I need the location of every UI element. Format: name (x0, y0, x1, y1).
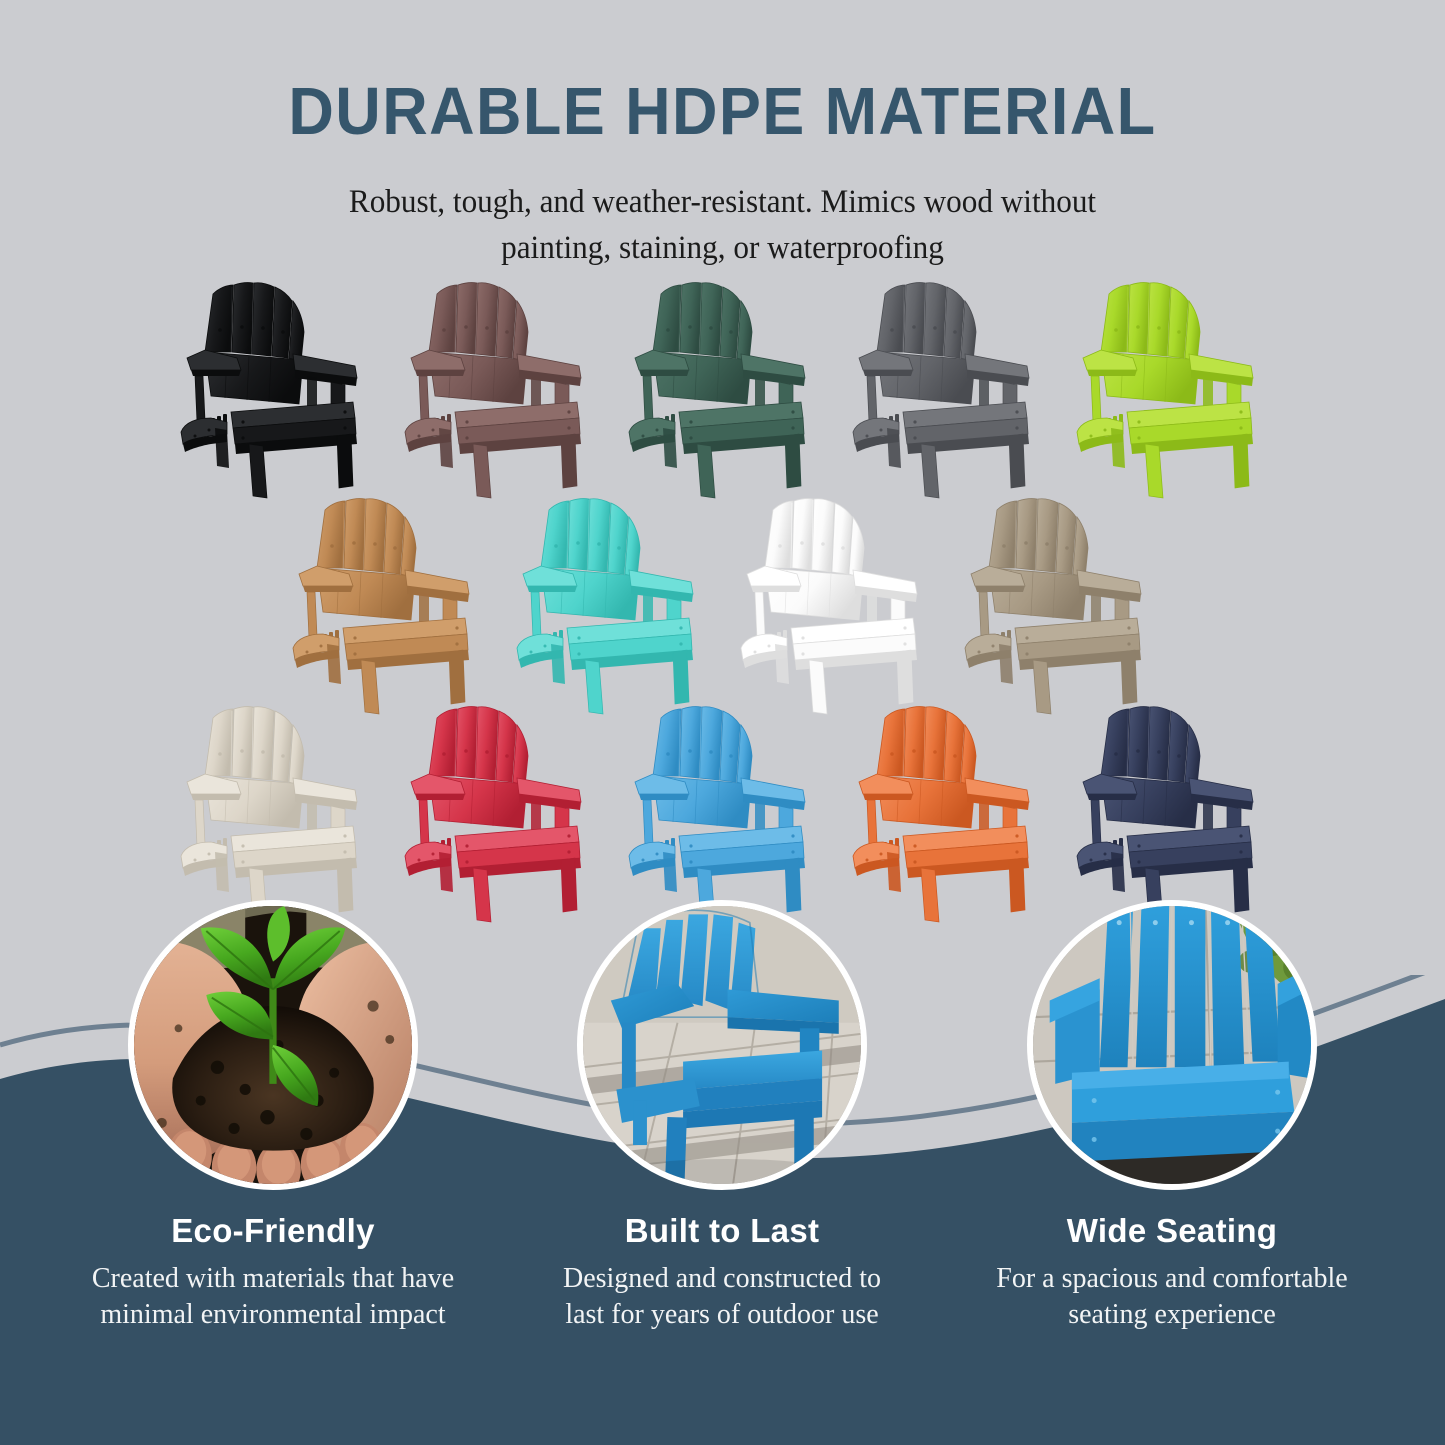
hands-holding-seedling-icon (134, 906, 412, 1184)
chair-swatch-beige[interactable] (175, 696, 375, 926)
feature-image-wide-seating (1027, 900, 1317, 1190)
blue-chair-patio-icon (583, 906, 861, 1184)
chair-swatch-gray[interactable] (847, 272, 1047, 502)
chair-color-grid (0, 0, 1445, 950)
chair-lime-green (1071, 272, 1271, 502)
feature-desc-wide-seating: For a spacious and comfortable seating e… (962, 1261, 1382, 1334)
chair-red (399, 696, 599, 926)
chair-swatch-teak[interactable] (287, 488, 487, 718)
chair-swatch-white[interactable] (735, 488, 935, 718)
chair-swatch-turquoise[interactable] (511, 488, 711, 718)
chair-black (175, 272, 375, 502)
feature-title-eco-friendly: Eco-Friendly (63, 1212, 483, 1250)
chair-swatch-brown[interactable] (399, 272, 599, 502)
chair-swatch-lime-green[interactable] (1071, 272, 1271, 502)
chair-row-1 (0, 272, 1445, 502)
features-section: Eco-Friendly Created with materials that… (0, 900, 1445, 1445)
feature-eco-friendly: Eco-Friendly Created with materials that… (63, 900, 483, 1334)
chair-white (735, 488, 935, 718)
chair-weathered-wood (959, 488, 1159, 718)
chair-swatch-weathered-wood[interactable] (959, 488, 1159, 718)
chair-swatch-orange[interactable] (847, 696, 1047, 926)
feature-desc-line-1: Created with materials that have (63, 1261, 483, 1297)
feature-desc-line-2: minimal environmental impact (63, 1297, 483, 1333)
chair-brown (399, 272, 599, 502)
blue-chair-seat-closeup-icon (1033, 906, 1311, 1184)
feature-desc-line-1: Designed and constructed to (512, 1261, 932, 1297)
chair-row-2 (0, 488, 1445, 718)
feature-desc-line-2: seating experience (962, 1297, 1382, 1333)
feature-wide-seating: Wide Seating For a spacious and comforta… (962, 900, 1382, 1334)
infographic-canvas: DURABLE HDPE MATERIAL Robust, tough, and… (0, 0, 1445, 1445)
feature-image-eco-friendly (128, 900, 418, 1190)
chair-swatch-navy[interactable] (1071, 696, 1271, 926)
chair-swatch-black[interactable] (175, 272, 375, 502)
chair-light-blue (623, 696, 823, 926)
chair-teak (287, 488, 487, 718)
chair-dark-green (623, 272, 823, 502)
chair-beige (175, 696, 375, 926)
feature-built-to-last: Built to Last Designed and constructed t… (512, 900, 932, 1334)
feature-desc-eco-friendly: Created with materials that have minimal… (63, 1261, 483, 1334)
chair-row-3 (0, 696, 1445, 926)
feature-desc-line-2: last for years of outdoor use (512, 1297, 932, 1333)
chair-swatch-light-blue[interactable] (623, 696, 823, 926)
feature-desc-line-1: For a spacious and comfortable (962, 1261, 1382, 1297)
feature-image-built-to-last (577, 900, 867, 1190)
chair-turquoise (511, 488, 711, 718)
chair-orange (847, 696, 1047, 926)
feature-desc-built-to-last: Designed and constructed to last for yea… (512, 1261, 932, 1334)
chair-swatch-red[interactable] (399, 696, 599, 926)
chair-navy (1071, 696, 1271, 926)
feature-title-wide-seating: Wide Seating (962, 1212, 1382, 1250)
chair-swatch-dark-green[interactable] (623, 272, 823, 502)
feature-title-built-to-last: Built to Last (512, 1212, 932, 1250)
chair-gray (847, 272, 1047, 502)
